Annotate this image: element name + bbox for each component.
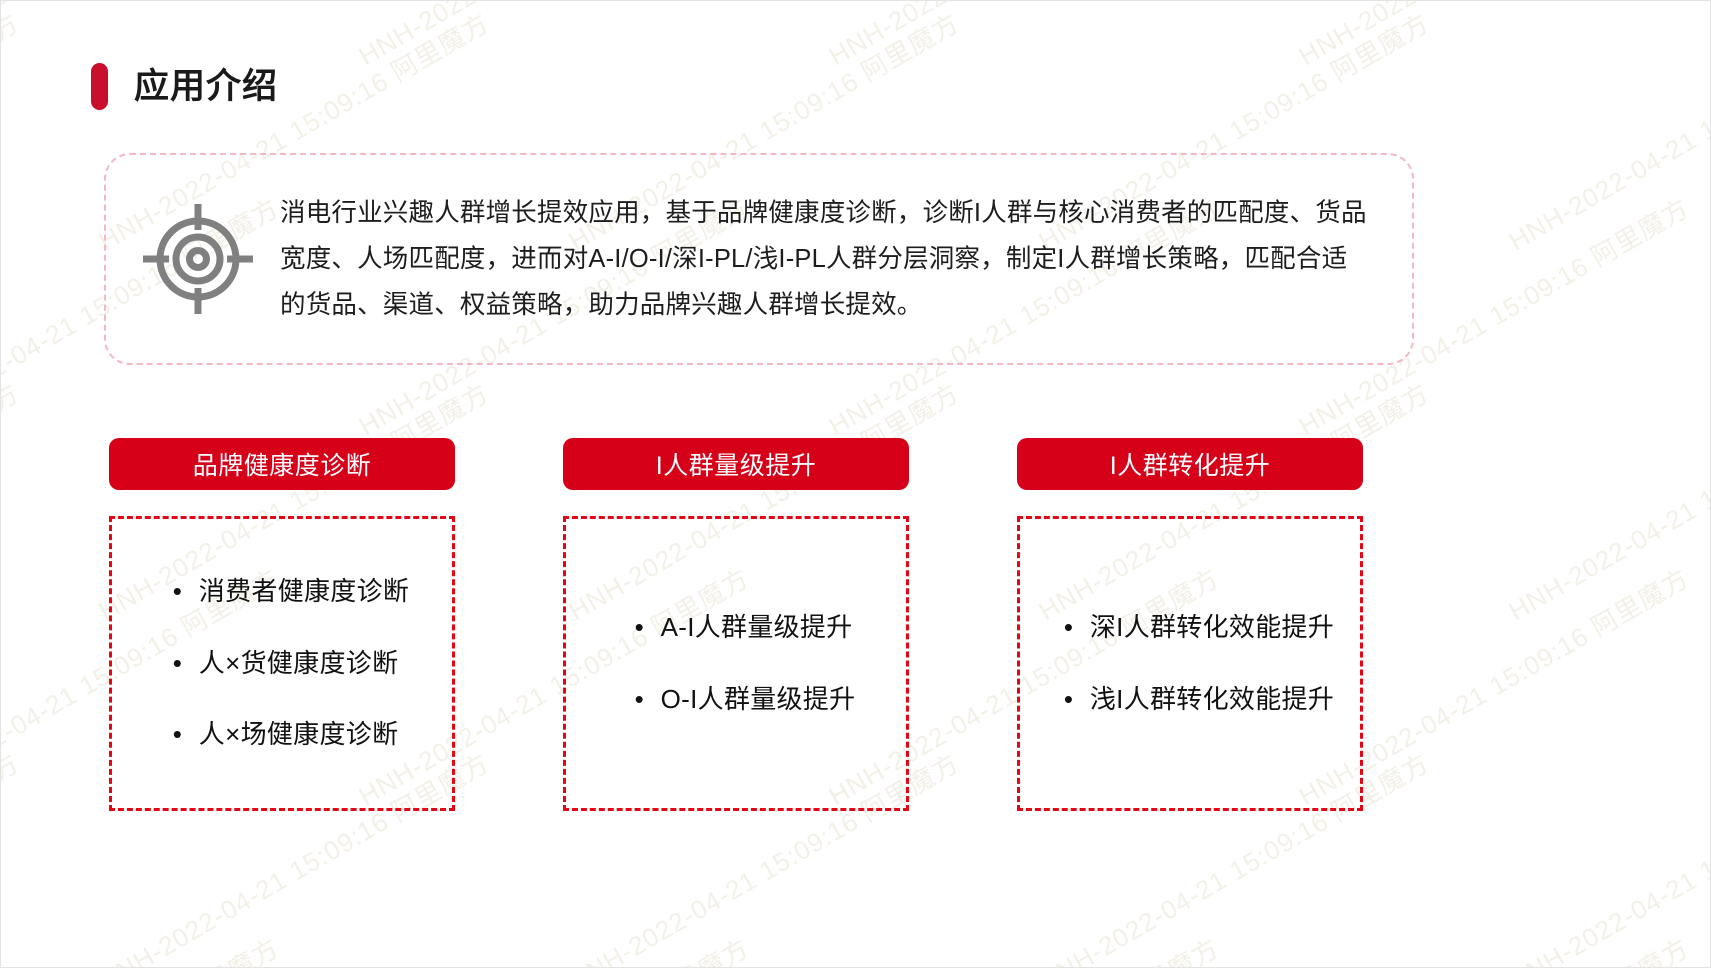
watermark-text: HNH-2022-04-21 15:09:16 阿里魔方	[1, 743, 25, 967]
bullet-dot-icon: •	[173, 647, 199, 681]
column-header-label: I人群量级提升	[656, 446, 816, 482]
page-title-row: 应用介绍	[91, 63, 278, 110]
title-accent-bar	[91, 63, 108, 110]
list-item-label: 深I人群转化效能提升	[1090, 611, 1334, 645]
page-title: 应用介绍	[134, 69, 278, 104]
list-item[interactable]: • 人×场健康度诊断	[155, 718, 409, 752]
intro-description: 消电行业兴趣人群增长提效应用，基于品牌健康度诊断，诊断I人群与核心消费者的匹配度…	[280, 190, 1382, 328]
watermark-text: HNH-2022-04-21 15:09:16 阿里魔方	[1, 373, 25, 628]
column-header-brand-health[interactable]: 品牌健康度诊断	[109, 438, 455, 490]
bullet-dot-icon: •	[635, 683, 661, 717]
column-body-brand-health: • 消费者健康度诊断 • 人×货健康度诊断 • 人×场健康度诊断	[109, 516, 455, 811]
bullet-dot-icon: •	[1064, 611, 1090, 645]
list-item-label: 人×货健康度诊断	[199, 647, 409, 681]
watermark-text: HNH-2022-04-21 15:09:16 阿里魔方	[1, 928, 285, 967]
list-item-label: O-I人群量级提升	[661, 683, 856, 717]
column-header-i-audience-conversion[interactable]: I人群转化提升	[1017, 438, 1363, 490]
bullet-dot-icon: •	[1064, 683, 1090, 717]
intro-line: 消电行业兴趣人群增长提效应用，基于品牌健康度诊断，诊断I人群与核心消费者的匹配度…	[280, 190, 1382, 236]
column-body-i-audience-conversion: • 深I人群转化效能提升 • 浅I人群转化效能提升	[1017, 516, 1363, 811]
watermark-text: HNH-2022-04-21 15:09:16 阿里魔方	[821, 1, 1225, 73]
list-item[interactable]: • 消费者健康度诊断	[155, 575, 409, 609]
column-header-label: 品牌健康度诊断	[193, 446, 372, 482]
list-item[interactable]: • O-I人群量级提升	[617, 683, 856, 717]
column-body-i-audience-scale: • A-I人群量级提升 • O-I人群量级提升	[563, 516, 909, 811]
intro-line: 的货品、渠道、权益策略，助力品牌兴趣人群增长提效。	[280, 282, 1382, 328]
list-item-label: A-I人群量级提升	[661, 611, 856, 645]
watermark-text: HNH-2022-04-21 15:09:16 阿里魔方	[1501, 3, 1710, 258]
column-header-label: I人群转化提升	[1110, 446, 1270, 482]
bullet-dot-icon: •	[635, 611, 661, 645]
target-crosshair-icon	[138, 199, 258, 319]
bullet-dot-icon: •	[173, 575, 199, 609]
watermark-text: HNH-2022-04-21 15:09:16 阿里魔方	[1291, 928, 1695, 967]
column-header-i-audience-scale[interactable]: I人群量级提升	[563, 438, 909, 490]
column-i-audience-scale: I人群量级提升 • A-I人群量级提升 • O-I人群量级提升	[563, 438, 909, 811]
columns-container: 品牌健康度诊断 • 消费者健康度诊断 • 人×货健康度诊断 • 人×场健康度诊断	[109, 438, 1399, 811]
bullet-list: • 消费者健康度诊断 • 人×货健康度诊断 • 人×场健康度诊断	[155, 575, 409, 752]
bullet-list: • 深I人群转化效能提升 • 浅I人群转化效能提升	[1046, 611, 1334, 717]
list-item[interactable]: • 浅I人群转化效能提升	[1046, 683, 1334, 717]
intro-panel: 消电行业兴趣人群增长提效应用，基于品牌健康度诊断，诊断I人群与核心消费者的匹配度…	[104, 153, 1414, 365]
intro-line: 宽度、人场匹配度，进而对A-I/O-I/深I-PL/浅I-PL人群分层洞察，制定…	[280, 236, 1382, 282]
list-item-label: 人×场健康度诊断	[199, 718, 409, 752]
slide-canvas: HNH-2022-04-21 15:09:16 阿里魔方HNH-2022-04-…	[0, 0, 1711, 968]
watermark-text: HNH-2022-04-21 15:09:16 阿里魔方	[1501, 743, 1710, 967]
list-item-label: 消费者健康度诊断	[199, 575, 409, 609]
column-i-audience-conversion: I人群转化提升 • 深I人群转化效能提升 • 浅I人群转化效能提升	[1017, 438, 1363, 811]
watermark-text: HNH-2022-04-21 15:09:16 阿里魔方	[1291, 1, 1695, 73]
list-item[interactable]: • A-I人群量级提升	[617, 611, 856, 645]
list-item[interactable]: • 深I人群转化效能提升	[1046, 611, 1334, 645]
watermark-text: HNH-2022-04-21 15:09:16 阿里魔方	[351, 928, 755, 967]
bullet-list: • A-I人群量级提升 • O-I人群量级提升	[617, 611, 856, 717]
list-item-label: 浅I人群转化效能提升	[1090, 683, 1334, 717]
watermark-text: HNH-2022-04-21 15:09:16 阿里魔方	[1, 3, 25, 258]
column-brand-health: 品牌健康度诊断 • 消费者健康度诊断 • 人×货健康度诊断 • 人×场健康度诊断	[109, 438, 455, 811]
watermark-text: HNH-2022-04-21 15:09:16 阿里魔方	[821, 928, 1225, 967]
watermark-text: HNH-2022-04-21 15:09:16 阿里魔方	[351, 1, 755, 73]
list-item[interactable]: • 人×货健康度诊断	[155, 647, 409, 681]
watermark-text: HNH-2022-04-21 15:09:16 阿里魔方	[1501, 373, 1710, 628]
bullet-dot-icon: •	[173, 718, 199, 752]
